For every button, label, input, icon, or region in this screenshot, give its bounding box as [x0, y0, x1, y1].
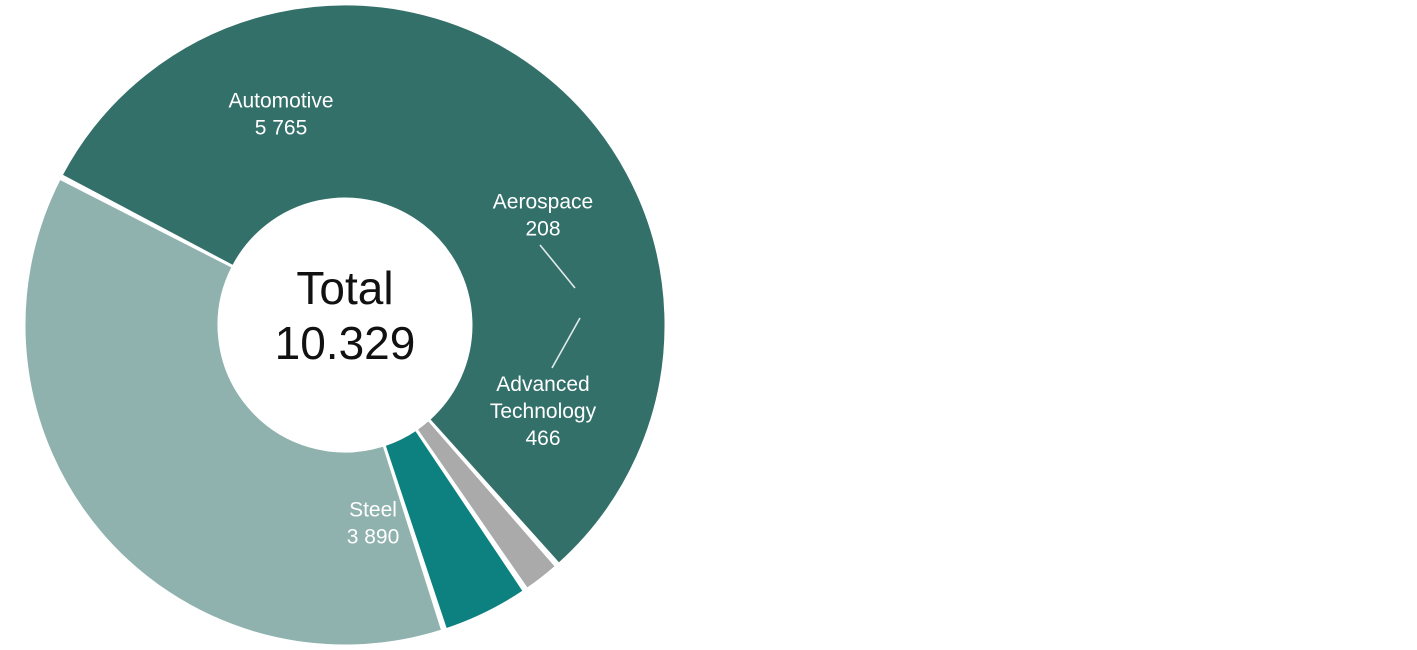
center-total-value: 10.329	[275, 317, 416, 369]
slice-label-line: Aerospace	[493, 190, 593, 213]
donut-center-group: Total 10.329	[218, 198, 472, 452]
center-total-label: Total	[296, 262, 393, 314]
donut-chart-svg: Automotive 5 765Aerospace 208Advanced Te…	[0, 0, 1417, 650]
donut-chart-canvas: Automotive 5 765Aerospace 208Advanced Te…	[0, 0, 1417, 650]
slice-label-line: 3 890	[347, 525, 400, 548]
slice-label-line: Steel	[349, 498, 397, 521]
slice-label-line: 208	[525, 217, 560, 240]
slice-label-line: 5 765	[255, 116, 308, 139]
slice-label-line: Automotive	[228, 89, 333, 112]
slice-label-line: Advanced	[496, 373, 589, 396]
slice-label-line: Technology	[490, 400, 597, 423]
slice-label-line: 466	[525, 427, 560, 450]
